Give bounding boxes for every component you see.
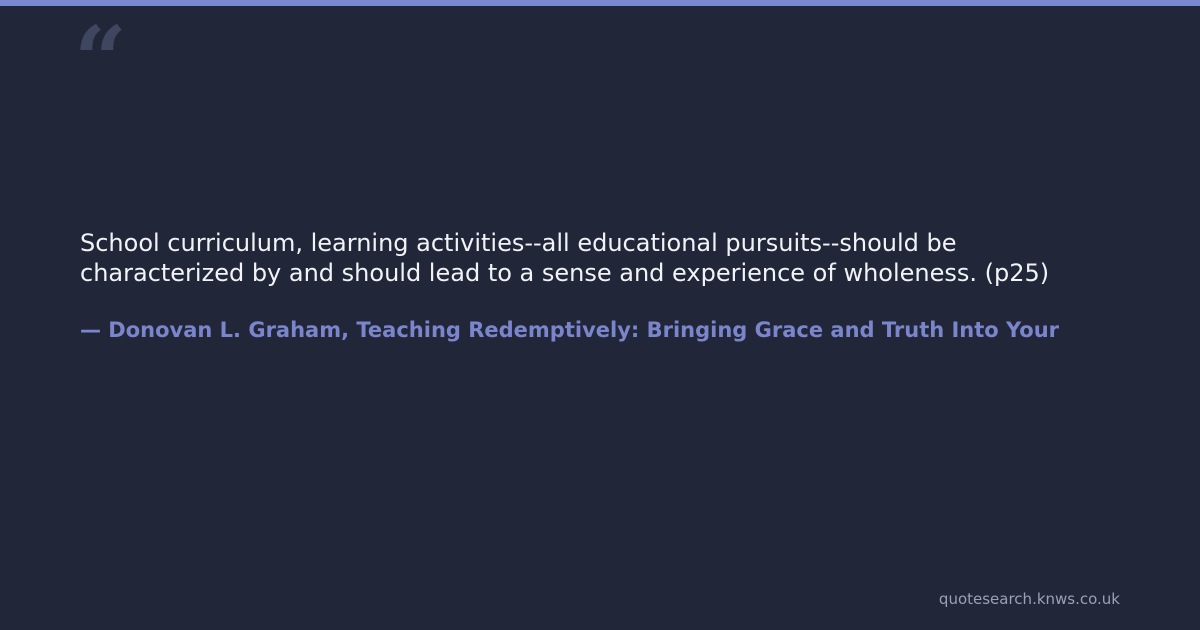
quote-text: School curriculum, learning activities--… [80,228,1090,288]
top-accent-bar [0,0,1200,6]
source-url: quotesearch.knws.co.uk [939,590,1120,608]
quotation-mark-icon: “ [74,14,125,106]
quote-card: “ School curriculum, learning activities… [0,0,1200,630]
quote-attribution: — Donovan L. Graham, Teaching Redemptive… [80,316,1200,344]
quote-content: School curriculum, learning activities--… [80,228,1200,344]
